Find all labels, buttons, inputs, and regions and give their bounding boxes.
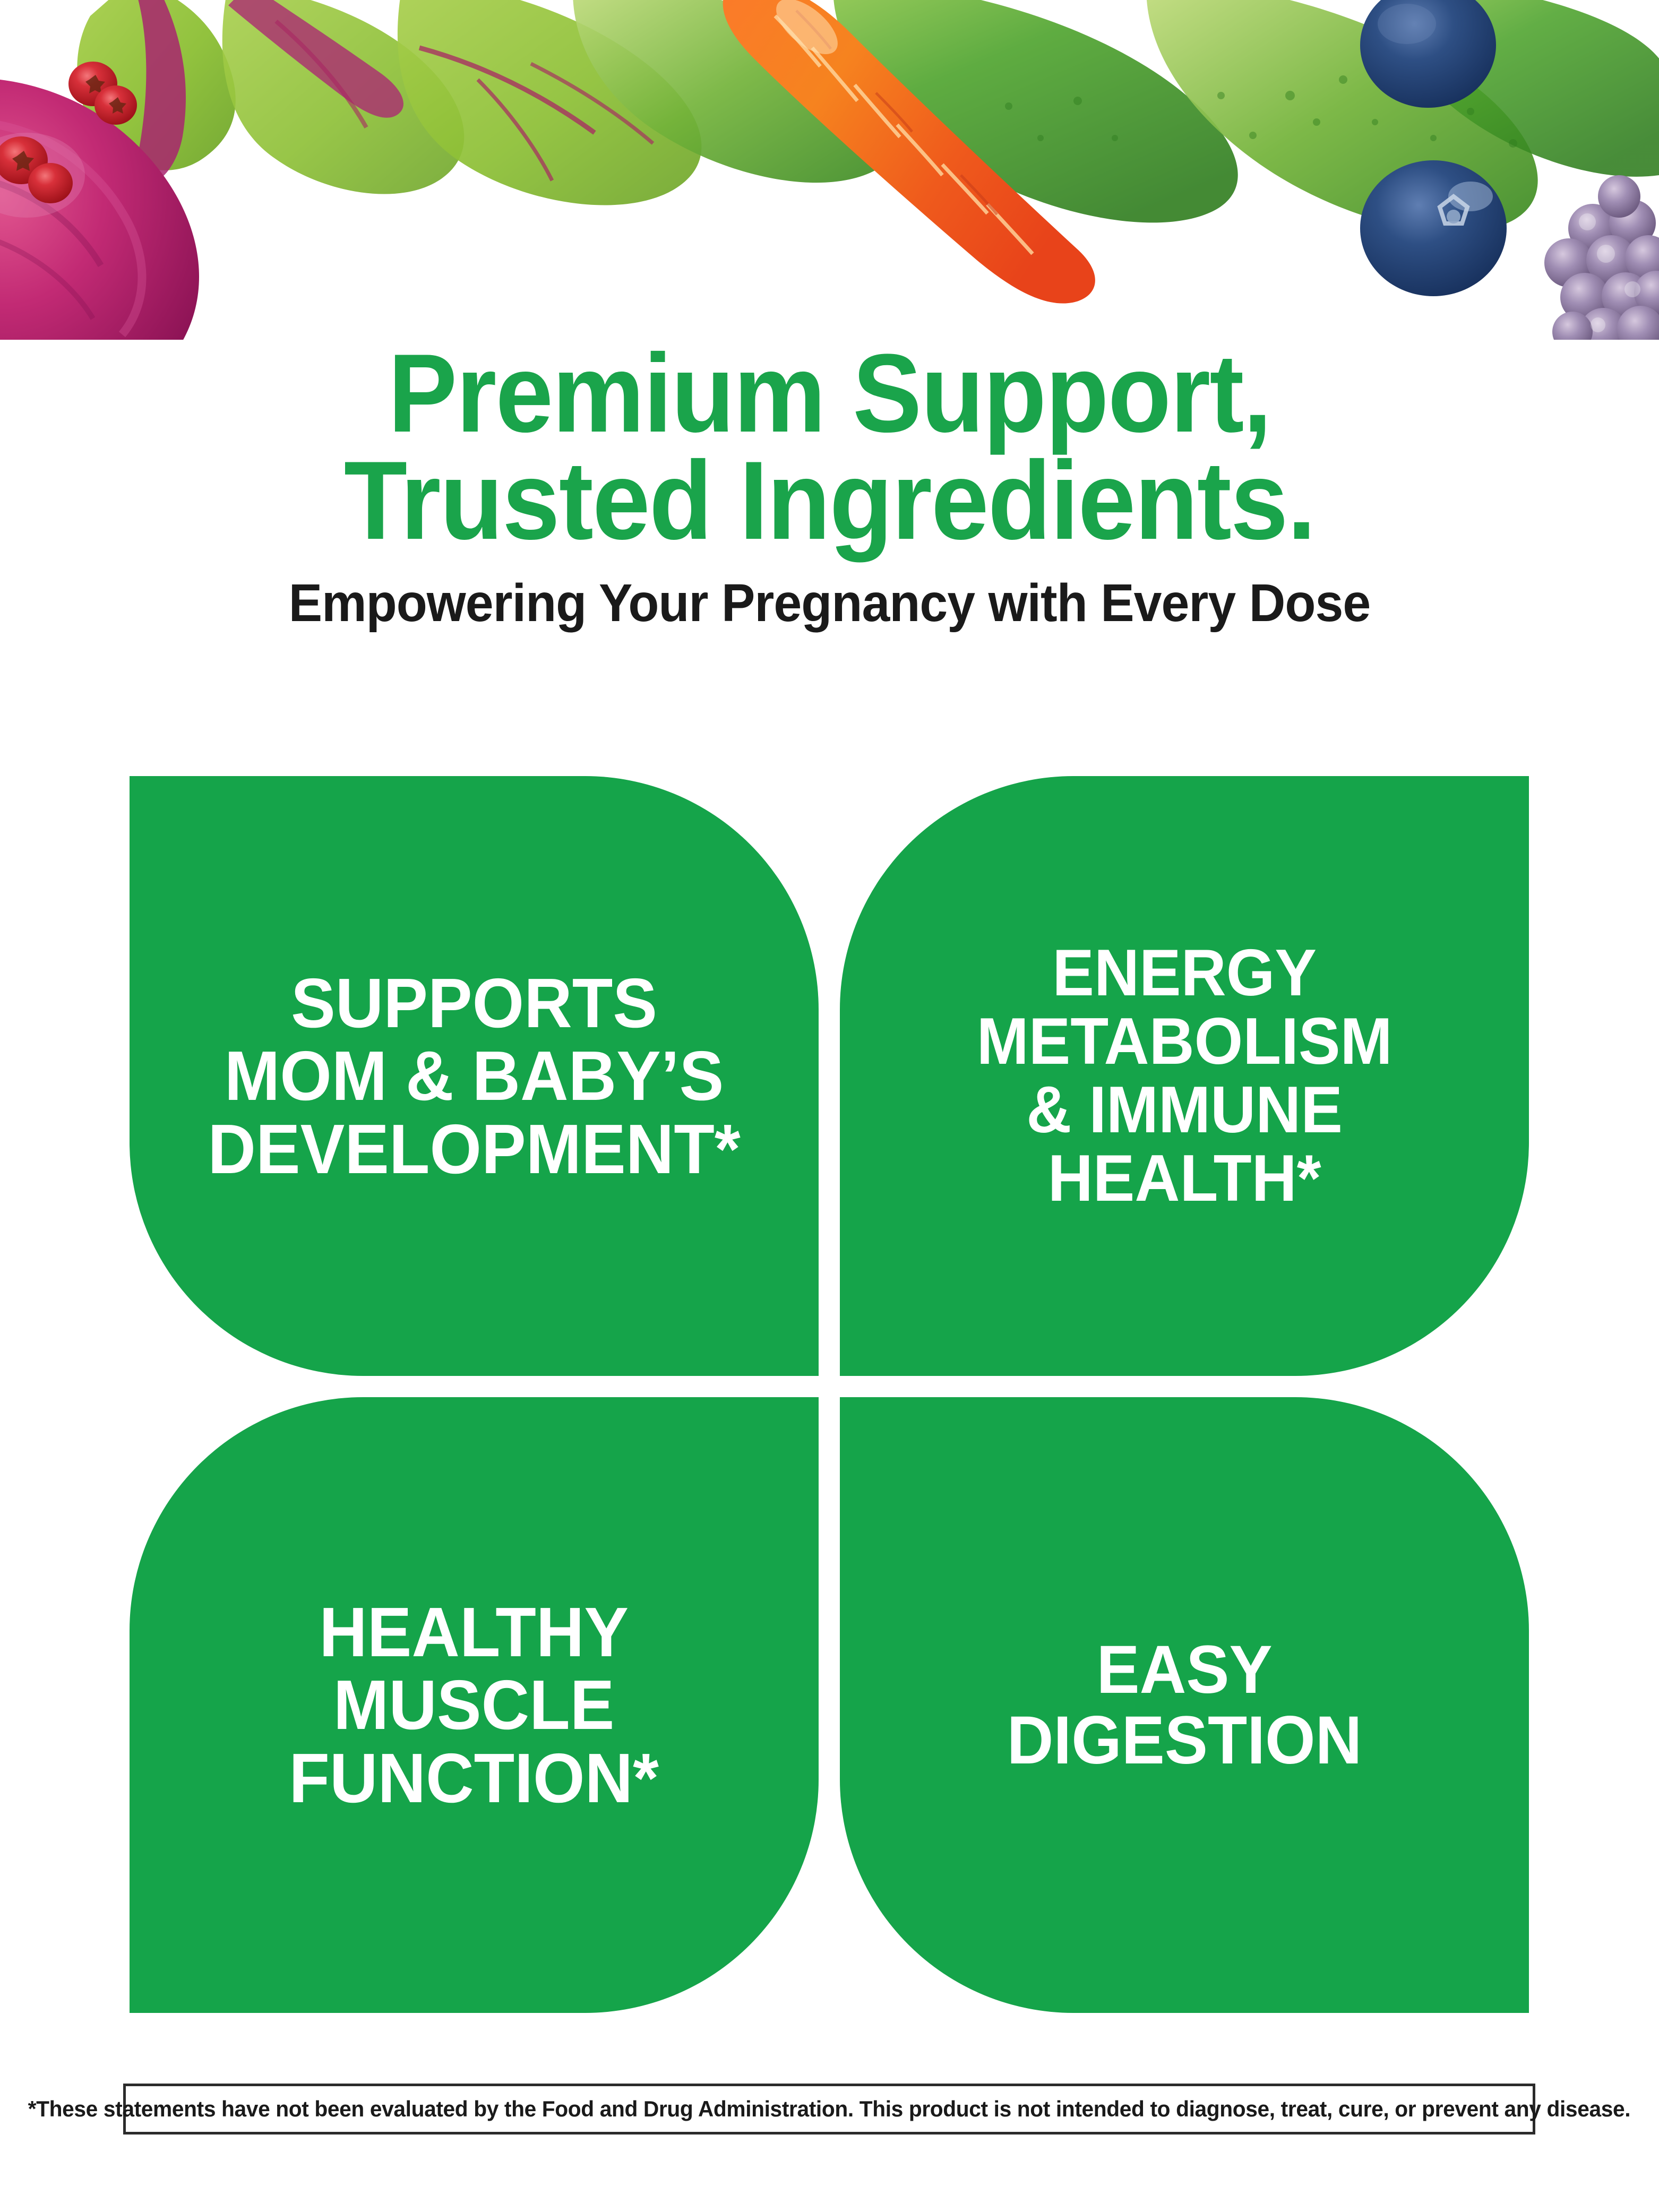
benefit-card-energy[interactable]: ENERGY METABOLISM & IMMUNE HEALTH* bbox=[840, 776, 1529, 1376]
cranberry-icon bbox=[0, 62, 175, 340]
benefits-grid: SUPPORTS MOM & BABY’S DEVELOPMENT* ENERG… bbox=[130, 776, 1529, 2013]
grape-cluster-icon bbox=[1544, 175, 1659, 340]
kale-leaf-icon bbox=[573, 0, 1659, 233]
benefit-card-supports-label: SUPPORTS MOM & BABY’S DEVELOPMENT* bbox=[208, 967, 740, 1185]
watercolor-produce-border bbox=[0, 0, 1659, 340]
carrot-icon bbox=[723, 0, 1095, 304]
benefit-card-muscle[interactable]: HEALTHY MUSCLE FUNCTION* bbox=[130, 1397, 819, 2013]
benefit-card-supports[interactable]: SUPPORTS MOM & BABY’S DEVELOPMENT* bbox=[130, 776, 819, 1376]
headline-block: Premium Support, Trusted Ingredients. Em… bbox=[0, 340, 1659, 632]
page-title: Premium Support, Trusted Ingredients. bbox=[58, 340, 1601, 554]
benefit-card-muscle-label: HEALTHY MUSCLE FUNCTION* bbox=[289, 1596, 659, 1814]
benefit-card-energy-label: ENERGY METABOLISM & IMMUNE HEALTH* bbox=[976, 939, 1392, 1213]
benefit-card-easy[interactable]: EASY DIGESTION bbox=[840, 1397, 1529, 2013]
disclaimer-text: *These statements have not been evaluate… bbox=[28, 2096, 1631, 2122]
disclaimer-box: *These statements have not been evaluate… bbox=[123, 2084, 1535, 2134]
page-title-line-1: Premium Support, bbox=[388, 331, 1271, 455]
page-subtitle: Empowering Your Pregnancy with Every Dos… bbox=[41, 574, 1618, 632]
beet-greens-icon bbox=[77, 0, 701, 205]
beet-icon bbox=[0, 78, 199, 340]
blueberry-icon bbox=[1360, 0, 1507, 296]
benefit-card-easy-label: EASY DIGESTION bbox=[1007, 1634, 1362, 1776]
page-title-line-2: Trusted Ingredients. bbox=[344, 438, 1315, 563]
